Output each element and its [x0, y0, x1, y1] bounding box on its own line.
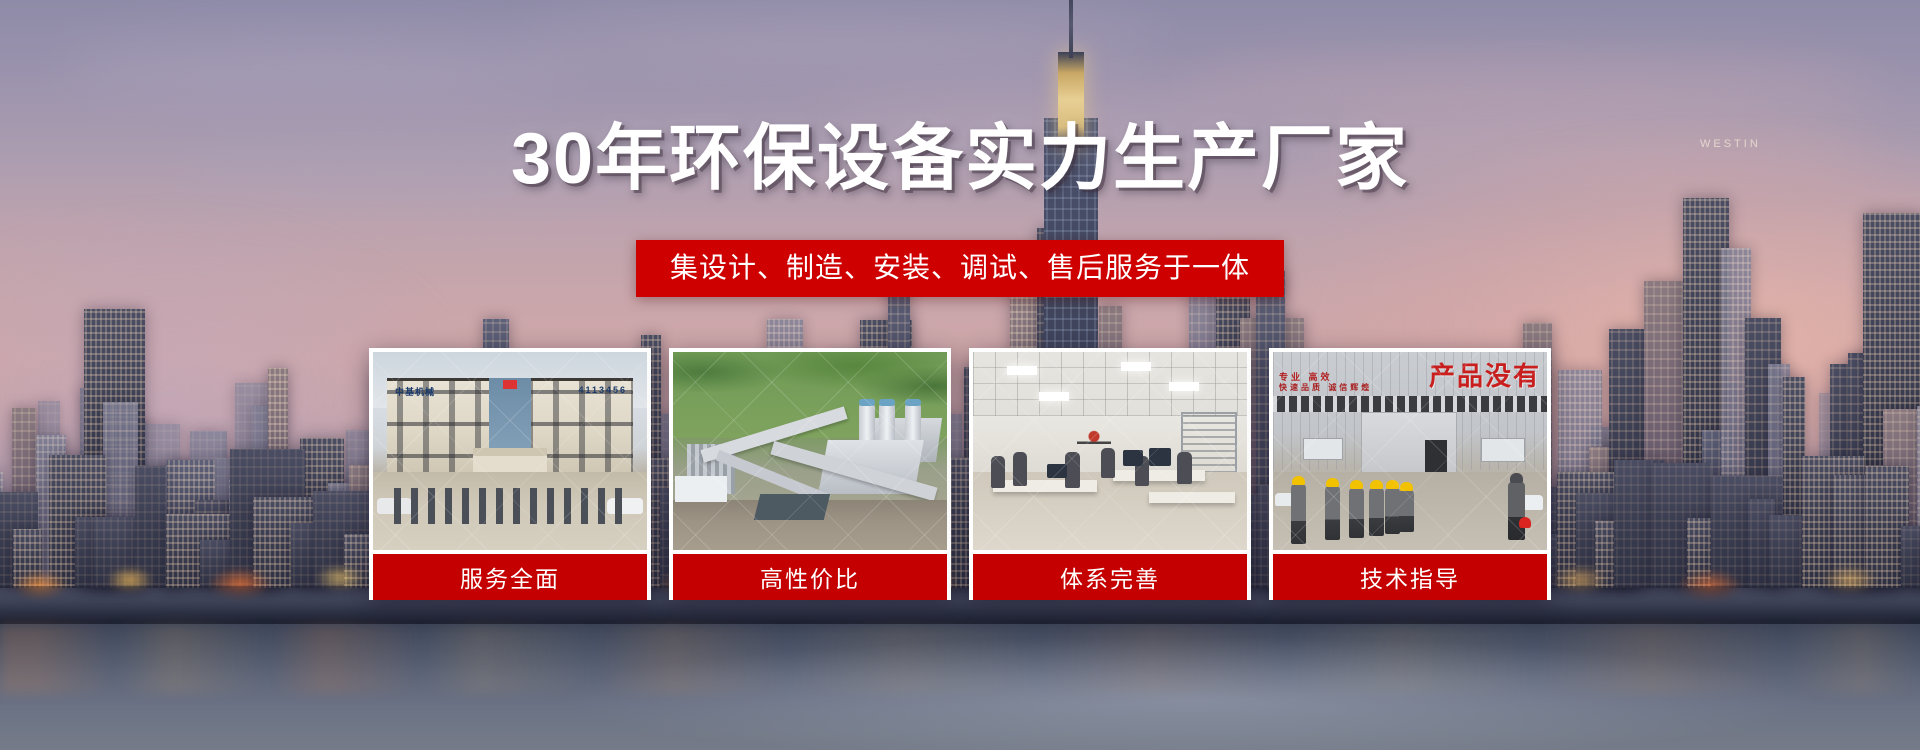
workshop-photo: 产品没有 专业 高效 快速品质 诚信辉煌 — [1273, 352, 1547, 550]
feature-card[interactable]: 高性价比 — [669, 348, 951, 600]
card-photo: 中基机械 4113456 — [373, 352, 647, 550]
feature-card[interactable]: 体系完善 — [969, 348, 1251, 600]
workshop-wall-text-small-2: 快速品质 诚信辉煌 — [1279, 382, 1372, 393]
building-photo: 中基机械 4113456 — [373, 352, 647, 550]
page-title: 30年环保设备实力生产厂家 — [0, 123, 1920, 195]
plant-aerial-photo — [673, 352, 947, 550]
subtitle-container: 集设计、制造、安装、调试、售后服务于一体 — [0, 240, 1920, 297]
workshop-wall-text: 产品没有 — [1429, 356, 1541, 393]
office-photo — [973, 352, 1247, 550]
card-photo — [673, 352, 947, 550]
card-caption: 体系完善 — [973, 554, 1247, 600]
card-caption: 高性价比 — [673, 554, 947, 600]
banner-content: 30年环保设备实力生产厂家 集设计、制造、安装、调试、售后服务于一体 中基机械 … — [0, 0, 1920, 750]
card-caption: 技术指导 — [1273, 554, 1547, 600]
building-phone-text: 4113456 — [578, 385, 627, 395]
card-caption: 服务全面 — [373, 554, 647, 600]
hero-banner: WESTIN 30年环保设备实力生产厂家 集设计、制造、安装、调试、售后服务于一… — [0, 0, 1920, 750]
subtitle-badge: 集设计、制造、安装、调试、售后服务于一体 — [636, 240, 1284, 297]
feature-card-list: 中基机械 4113456 服务全面 — [0, 348, 1920, 600]
card-photo: 产品没有 专业 高效 快速品质 诚信辉煌 — [1273, 352, 1547, 550]
feature-card[interactable]: 产品没有 专业 高效 快速品质 诚信辉煌 — [1269, 348, 1551, 600]
feature-card[interactable]: 中基机械 4113456 服务全面 — [369, 348, 651, 600]
card-photo — [973, 352, 1247, 550]
building-sign-text: 中基机械 — [395, 385, 435, 398]
